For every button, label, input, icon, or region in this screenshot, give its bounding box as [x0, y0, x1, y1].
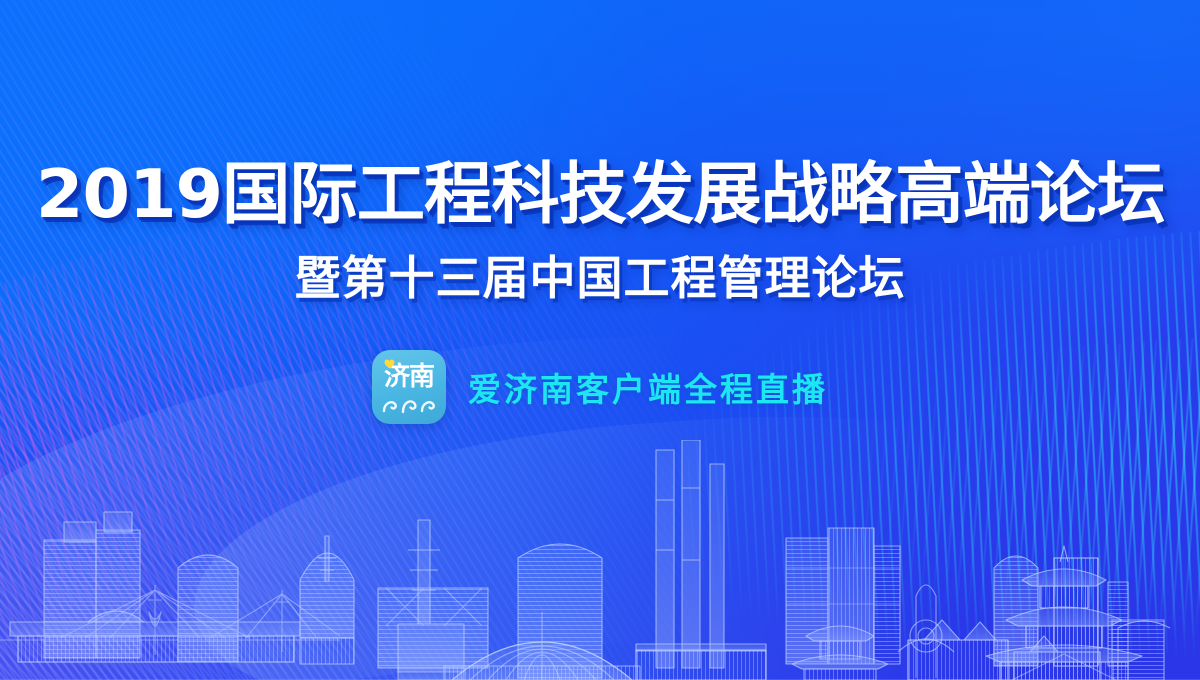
page-subtitle: 暨第十三届中国工程管理论坛	[295, 242, 906, 308]
app-logo-jinan[interactable]: 济南	[372, 350, 446, 424]
heart-icon	[384, 359, 395, 369]
broadcast-row: 济南 爱济南客户端全程直播	[372, 350, 828, 424]
broadcast-label: 爱济南客户端全程直播	[468, 363, 828, 411]
wave-pattern-icon	[372, 391, 446, 417]
event-poster: 2019国际工程科技发展战略高端论坛 暨第十三届中国工程管理论坛 济南 爱济南客…	[0, 0, 1200, 680]
page-title: 2019国际工程科技发展战略高端论坛	[36, 160, 1165, 228]
poster-content: 2019国际工程科技发展战略高端论坛 暨第十三届中国工程管理论坛 济南 爱济南客…	[0, 0, 1200, 680]
